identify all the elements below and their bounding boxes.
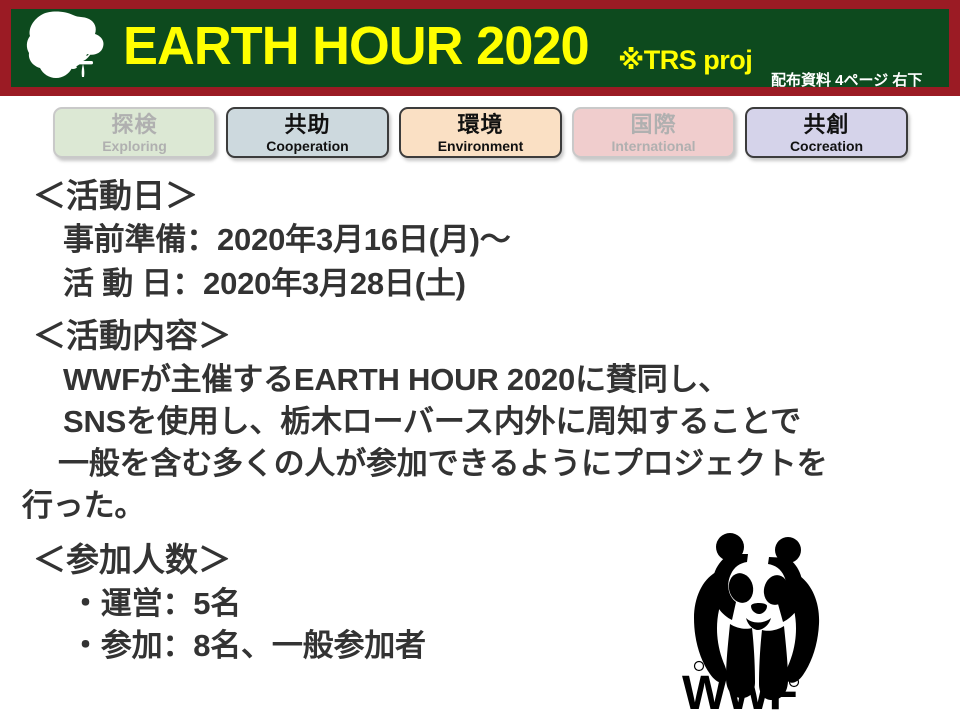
- wwf-wordmark: WWF: [682, 667, 797, 712]
- activity-content-line-2: SNSを使用し、栃木ローバース内外に周知することで: [63, 402, 801, 442]
- tab-exploring-label-jp: 探検: [55, 111, 214, 138]
- tab-environment-label-en: Environment: [401, 138, 560, 155]
- tab-exploring[interactable]: 探検 Exploring: [53, 107, 216, 158]
- tab-cooperation-label-en: Cooperation: [228, 138, 387, 155]
- heading-activity-content: ＜活動内容＞: [33, 316, 231, 356]
- tochigi-scout-emblem-icon: [21, 8, 121, 88]
- handout-reference-note: 配布資料 4ページ 右下: [771, 69, 922, 90]
- category-tab-bar: 探検 Exploring 共助 Cooperation 環境 Environme…: [0, 104, 960, 164]
- heading-activity-date: ＜活動日＞: [33, 176, 198, 216]
- activity-date-main: 活 動 日：2020年3月28日(土): [63, 264, 466, 304]
- tab-international[interactable]: 国際 International: [572, 107, 735, 158]
- participant-attendee-count: ・参加：8名、一般参加者: [70, 626, 426, 666]
- wwf-panda-logo-icon: WWF: [672, 532, 842, 712]
- tab-cocreation[interactable]: 共創 Cocreation: [745, 107, 908, 158]
- tab-international-label-en: International: [574, 138, 733, 155]
- tab-environment[interactable]: 環境 Environment: [399, 107, 562, 158]
- project-tag: ※TRS proj: [618, 45, 752, 76]
- tab-exploring-label-en: Exploring: [55, 138, 214, 155]
- header-inner-panel: EARTH HOUR 2020 ※TRS proj 配布資料 4ページ 右下: [11, 9, 949, 87]
- activity-date-preparation: 事前準備：2020年3月16日(月)〜: [63, 220, 511, 260]
- activity-content-line-1: WWFが主催するEARTH HOUR 2020に賛同し、: [63, 360, 729, 400]
- tab-cooperation-label-jp: 共助: [228, 111, 387, 138]
- activity-content-line-3: 一般を含む多くの人が参加できるようにプロジェクトを: [58, 444, 827, 484]
- tab-cooperation[interactable]: 共助 Cooperation: [226, 107, 389, 158]
- tab-cocreation-label-en: Cocreation: [747, 138, 906, 155]
- page-title: EARTH HOUR 2020: [123, 13, 589, 79]
- tab-international-label-jp: 国際: [574, 111, 733, 138]
- tab-environment-label-jp: 環境: [401, 111, 560, 138]
- tab-cocreation-label-jp: 共創: [747, 111, 906, 138]
- activity-content-line-4: 行った。: [22, 486, 145, 526]
- header-banner: EARTH HOUR 2020 ※TRS proj 配布資料 4ページ 右下: [0, 0, 960, 96]
- participant-staff-count: ・運営：5名: [70, 584, 241, 624]
- heading-participant-count: ＜参加人数＞: [33, 540, 231, 580]
